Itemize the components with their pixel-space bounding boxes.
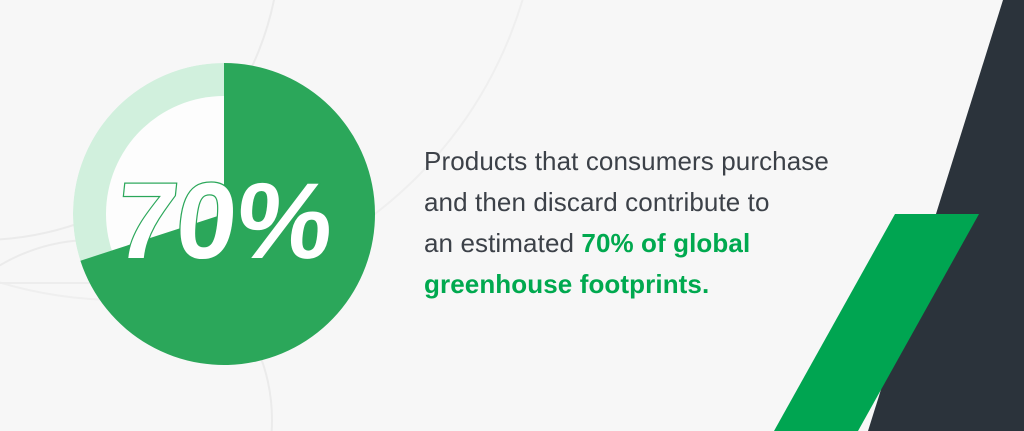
pie-data-label-text: 70% <box>110 160 339 281</box>
infographic-canvas: 70% Products that consumers purchase and… <box>0 0 1024 431</box>
body-line-2: and then discard contribute to <box>424 182 894 223</box>
body-line-1: Products that consumers purchase <box>424 141 894 182</box>
body-line-3-highlight: 70% of global <box>581 228 750 258</box>
body-line-3-plain: an estimated <box>424 228 581 258</box>
body-copy: Products that consumers purchase and the… <box>424 141 894 305</box>
body-line-4-highlight: greenhouse footprints. <box>424 264 894 305</box>
body-line-3: an estimated 70% of global <box>424 223 894 264</box>
